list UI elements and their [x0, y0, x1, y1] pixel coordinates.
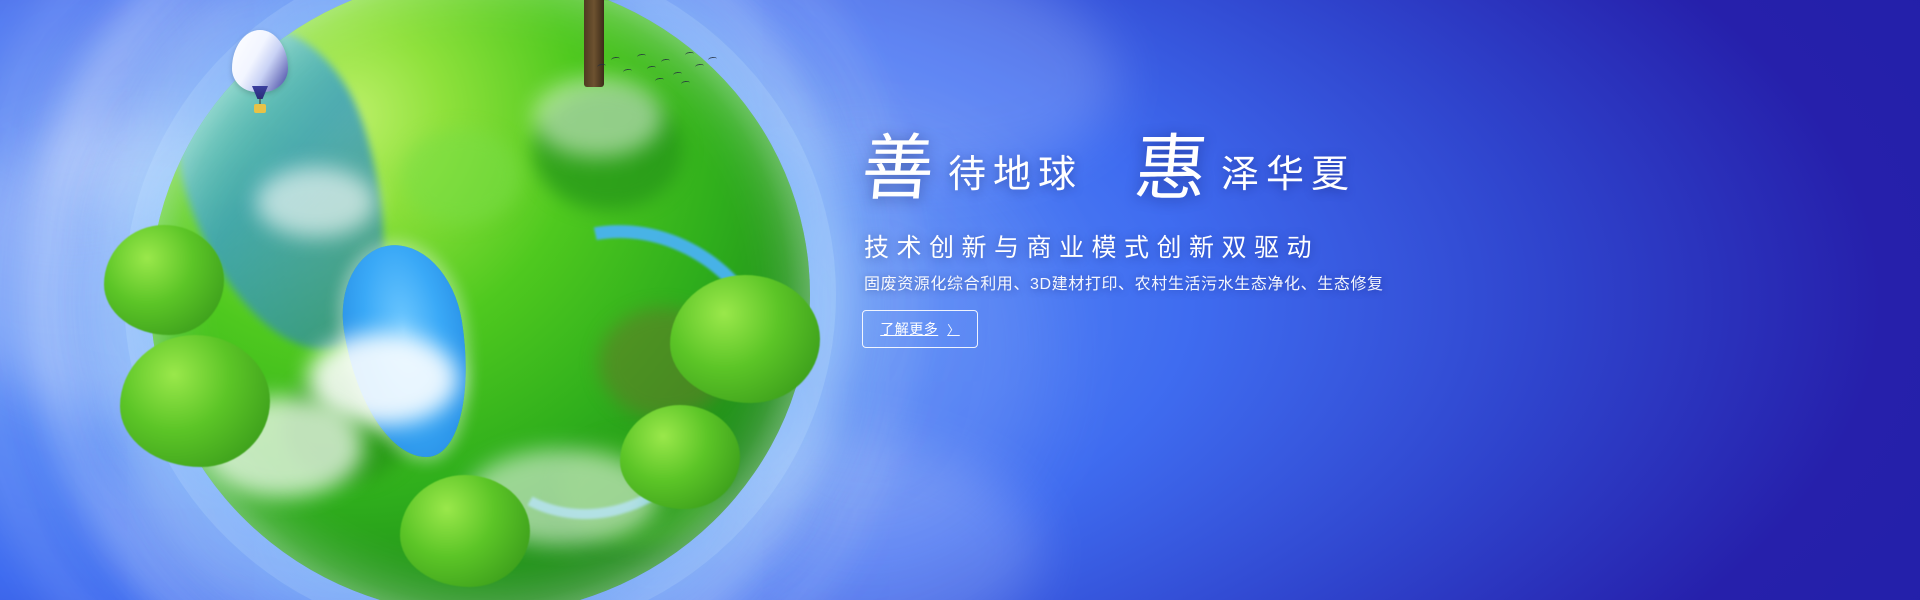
bird-icon	[695, 63, 705, 69]
hero-subtitle: 技术创新与商业模式创新双驱动	[864, 228, 1319, 264]
headline-lead-char-1: 善	[859, 136, 937, 202]
chevron-right-icon: 〉	[947, 321, 960, 338]
hero-description: 固废资源化综合利用、3D建材打印、农村生活污水生态净化、生态修复	[864, 270, 1384, 294]
tree-canopy	[400, 475, 530, 587]
tree-canopy	[120, 335, 270, 467]
tree-icon	[120, 335, 270, 485]
learn-more-label: 了解更多	[880, 319, 938, 339]
bird-icon	[647, 65, 657, 71]
headline-rest-1: 待地球	[948, 156, 1083, 194]
tree-icon	[670, 275, 820, 425]
balloon-envelope	[232, 30, 288, 92]
bird-icon	[637, 53, 647, 59]
headline-phrase-2: 惠 泽华夏	[1135, 136, 1356, 202]
hero-banner: 善 待地球 惠 泽华夏 技术创新与商业模式创新双驱动 固废资源化综合利用、3D建…	[0, 0, 1920, 600]
bird-icon	[681, 80, 691, 86]
forest-patch	[401, 129, 521, 224]
bird-icon	[623, 68, 633, 74]
tree-icon	[480, 0, 710, 55]
headline-rest-2: 泽华夏	[1221, 156, 1356, 194]
bird-icon	[673, 71, 683, 77]
hero-headline: 善 待地球 惠 泽华夏	[862, 136, 1356, 202]
bird-icon	[661, 58, 671, 64]
tree-canopy	[620, 405, 740, 509]
tree-icon	[104, 225, 224, 345]
learn-more-button[interactable]: 了解更多 〉	[862, 310, 978, 348]
bird-icon	[597, 63, 607, 69]
bird-icon	[611, 56, 621, 62]
tree-icon	[620, 405, 740, 525]
hero-content: 善 待地球 惠 泽华夏 技术创新与商业模式创新双驱动 固废资源化综合利用、3D建…	[862, 0, 1622, 600]
hot-air-balloon-icon	[232, 30, 292, 120]
globe-cloud	[256, 167, 376, 237]
tree-icon	[400, 475, 530, 600]
tree-canopy	[104, 225, 224, 335]
birds-flock-icon	[595, 48, 725, 90]
headline-lead-char-2: 惠	[1132, 136, 1210, 202]
balloon-basket	[254, 104, 266, 113]
bird-icon	[685, 51, 695, 57]
tree-canopy	[670, 275, 820, 403]
bird-icon	[708, 56, 718, 62]
headline-phrase-1: 善 待地球	[862, 136, 1083, 202]
bird-icon	[655, 77, 665, 83]
